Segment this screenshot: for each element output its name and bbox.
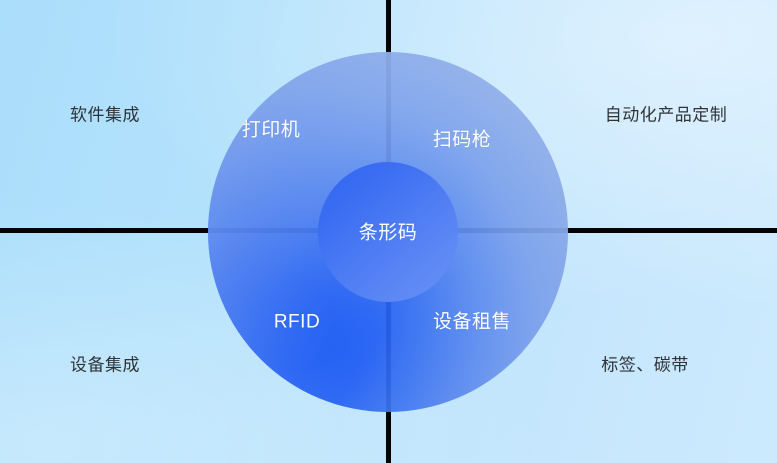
quadrant-label-device-integration[interactable]: 设备集成	[70, 357, 140, 374]
diagram-canvas: 打印机 扫码枪 RFID 设备租售 条形码 软件集成 自动化产品定制 设备集成 …	[0, 0, 777, 463]
segment-label-rental[interactable]: 设备租售	[433, 313, 511, 332]
quadrant-label-automation-custom[interactable]: 自动化产品定制	[605, 107, 728, 124]
segment-label-scanner[interactable]: 扫码枪	[433, 131, 492, 150]
segment-label-printer[interactable]: 打印机	[242, 121, 301, 140]
segment-label-rfid[interactable]: RFID	[274, 313, 320, 332]
quadrant-label-labels-ribbons[interactable]: 标签、碳带	[601, 357, 689, 374]
quadrant-label-software-integration[interactable]: 软件集成	[70, 107, 140, 124]
core-label-barcode[interactable]: 条形码	[359, 224, 418, 243]
